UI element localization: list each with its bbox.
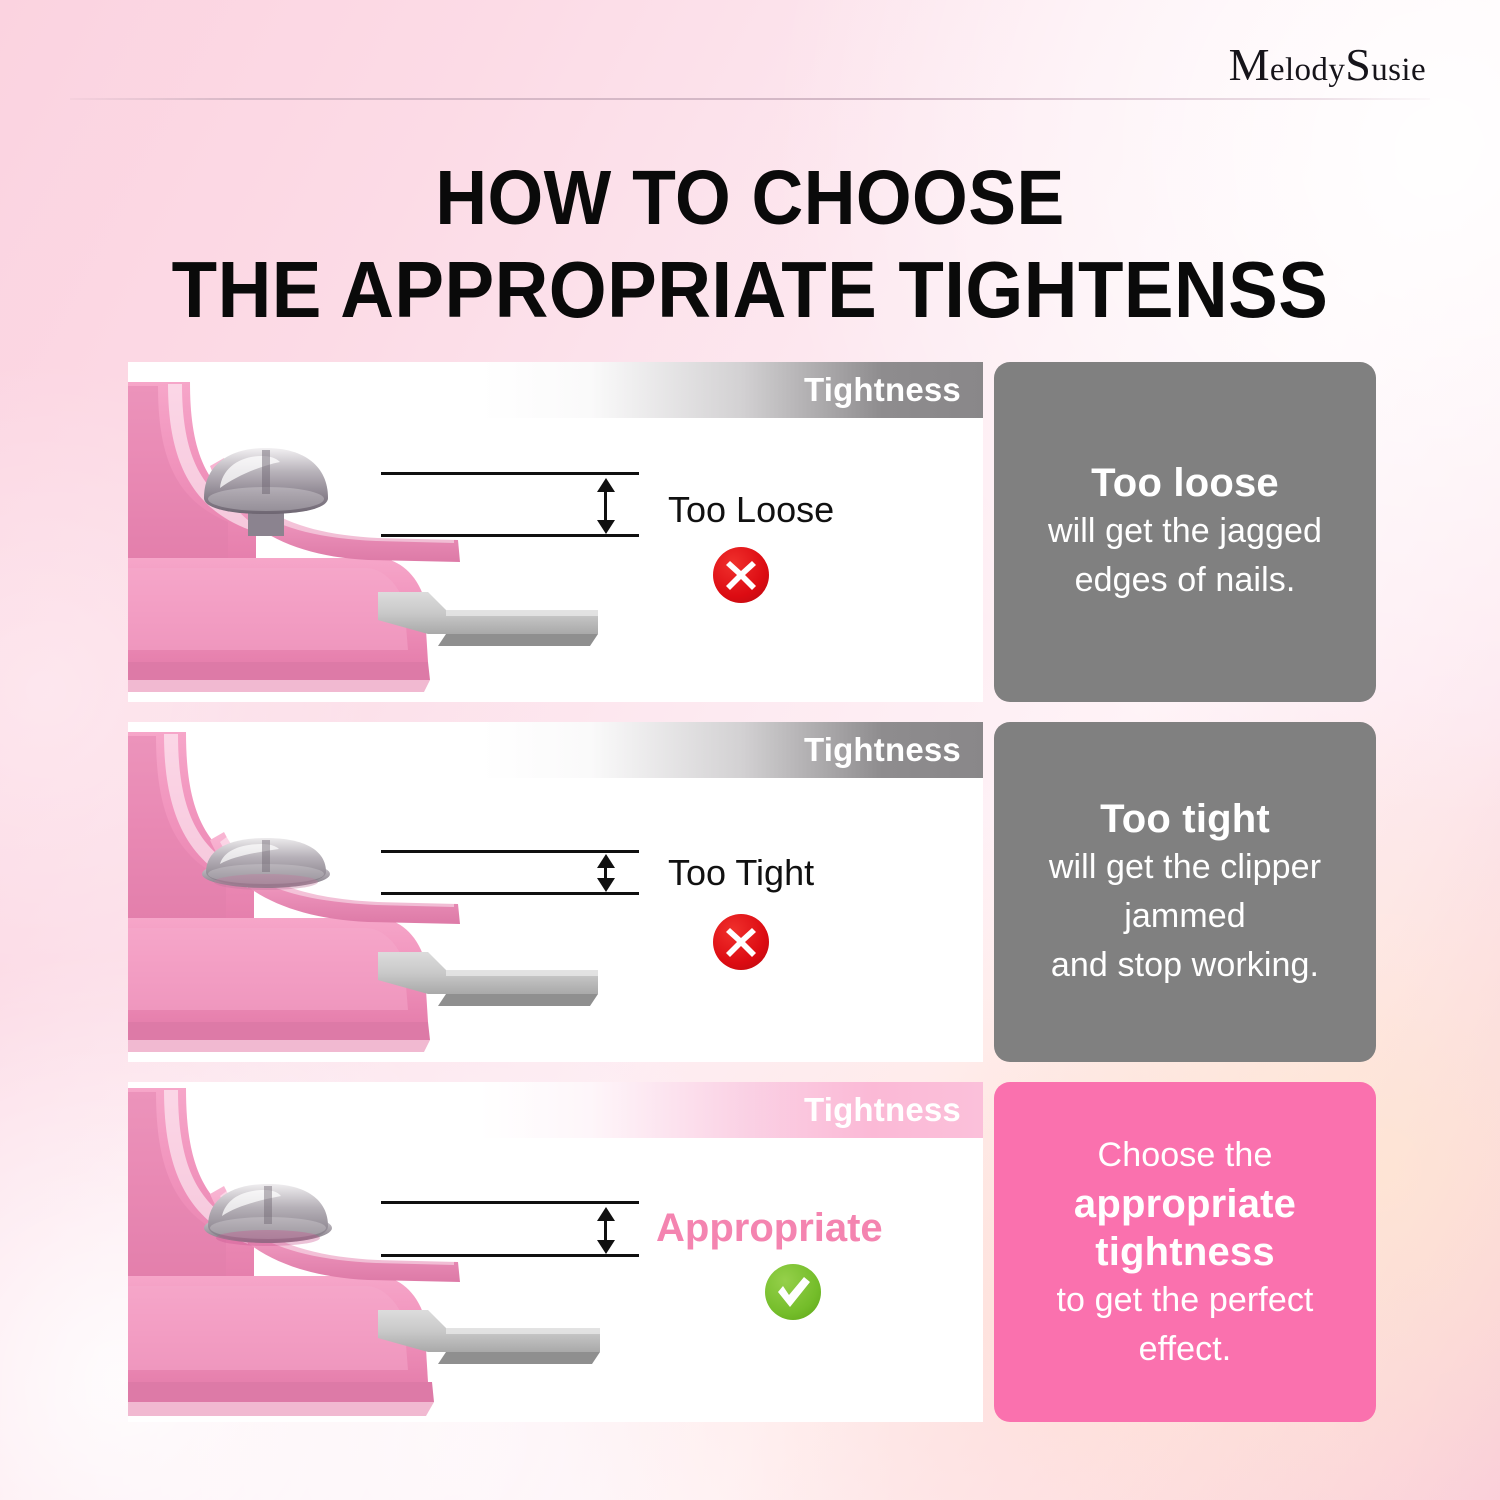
description-card-appropriate: Choose the appropriate tightness to get … [994,1082,1376,1422]
illustration-panel-appropriate: Appropriate Tightness [128,1082,983,1422]
measure-top-line [381,472,639,475]
measure-arrow-down [597,520,615,534]
card-body-line-2: effect. [1139,1325,1232,1374]
green-check-icon [765,1264,821,1320]
illustration-panel-too-tight: Too Tight Tightness [128,722,983,1062]
card-body-line-1: will get the clipper [1049,843,1321,892]
card-body-line-1: to get the perfect [1057,1276,1314,1325]
brand-logo: MelodySusie [1229,38,1426,91]
measure-bottom-line [381,534,639,537]
measure-arrow-down [597,1240,615,1254]
comparison-row-too-loose: Too Loose Tightness Too loose will get t… [128,362,1376,702]
logo-text-usie: usie [1371,52,1426,88]
card-body-line-2: jammed [1124,892,1246,941]
red-x-icon [713,914,769,970]
page-title: HOW TO CHOOSE THE APPROPRIATE TIGHTENSS [53,152,1448,336]
tightness-banner: Tightness [480,1082,983,1138]
verdict-label: Too Loose [668,489,834,531]
tightness-banner-label: Tightness [804,731,961,769]
logo-text-elody: elody [1270,52,1345,88]
red-x-icon [713,547,769,603]
illustration-panel-too-loose: Too Loose Tightness [128,362,983,702]
card-intro-line: Choose the [1098,1131,1273,1180]
card-heading-line-2: tightness [1095,1228,1275,1276]
measure-top-line [381,850,639,853]
tightness-banner: Tightness [480,362,983,418]
tightness-banner: Tightness [480,722,983,778]
card-body-line-1: will get the jagged [1048,507,1322,556]
logo-letter-m: M [1229,39,1270,90]
card-body-line-2: edges of nails. [1075,556,1296,605]
measure-arrow-shaft [604,488,607,522]
comparison-row-too-tight: Too Tight Tightness Too tight will get t… [128,722,1376,1062]
measure-top-line [381,1201,639,1204]
card-body-line-3: and stop working. [1051,941,1319,990]
tightness-banner-label: Tightness [804,1091,961,1129]
page-title-line1: HOW TO CHOOSE [53,152,1448,244]
description-card-too-tight: Too tight will get the clipper jammed an… [994,722,1376,1062]
tightness-banner-label: Tightness [804,371,961,409]
comparison-row-appropriate: Appropriate Tightness Choose the appropr… [128,1082,1376,1422]
verdict-label: Too Tight [668,852,814,894]
card-heading-line-1: appropriate [1074,1180,1296,1228]
page-title-line2: THE APPROPRIATE TIGHTENSS [53,244,1448,336]
measure-bottom-line [381,1254,639,1257]
description-card-too-loose: Too loose will get the jagged edges of n… [994,362,1376,702]
infographic-page: MelodySusie HOW TO CHOOSE THE APPROPRIAT… [0,0,1500,1500]
header-divider [70,98,1430,100]
logo-letter-s: S [1345,39,1371,90]
card-heading: Too loose [1091,459,1279,507]
measure-bottom-line [381,892,639,895]
verdict-label: Appropriate [656,1206,883,1251]
measure-arrow-down [597,878,615,892]
card-heading: Too tight [1100,795,1270,843]
